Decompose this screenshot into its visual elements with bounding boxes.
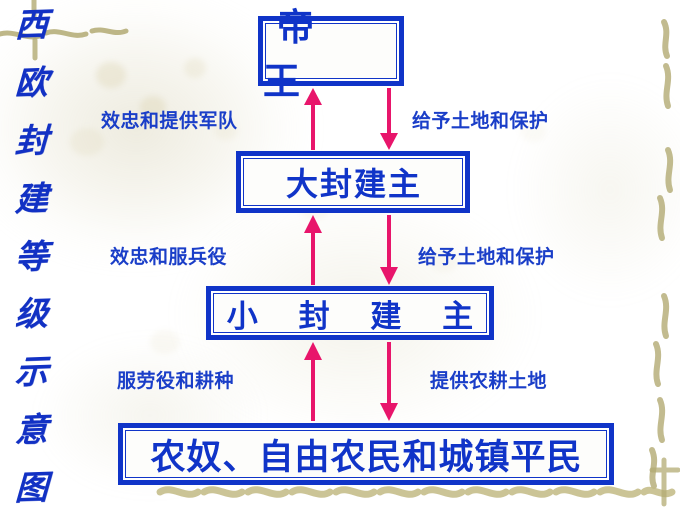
- title-char: 示: [14, 355, 48, 389]
- slide-canvas: 西 欧 封 建 等 级 示 意 图 帝 王 大封建主 小 封 建 主 农奴、自由…: [0, 0, 680, 510]
- node-box-small-feudal-lord: 小 封 建 主: [206, 286, 494, 340]
- node-box-great-feudal-lord: 大封建主: [236, 151, 470, 213]
- blossom-dot: [70, 128, 104, 156]
- watermark-wash-right: [480, 40, 680, 340]
- title-char: 图: [14, 470, 48, 504]
- bamboo-band-bottom-icon: [160, 490, 672, 495]
- blossom-dot: [150, 330, 180, 354]
- arrow-down-great-lord-to-small-lord: [378, 215, 400, 285]
- edge-label-upward-tier1: 效忠和提供军队: [101, 106, 238, 133]
- arrow-up-emperor-to-great-lord: [302, 88, 324, 150]
- bamboo-branch-right-icon: [652, 22, 670, 486]
- title-char: 建: [14, 181, 48, 215]
- arrow-up-small-lord-to-commoners: [302, 342, 324, 421]
- node-box-commoners: 农奴、自由农民和城镇平民: [118, 423, 614, 485]
- edge-label-upward-tier2: 效忠和服兵役: [110, 242, 227, 269]
- blossom-dot: [184, 58, 206, 78]
- arrow-down-small-lord-to-commoners: [378, 342, 400, 421]
- bamboo-cross-node-icon: [652, 460, 678, 504]
- title-char: 意: [14, 413, 48, 447]
- vertical-title: 西 欧 封 建 等 级 示 意 图: [4, 8, 58, 504]
- arrow-down-emperor-to-great-lord: [378, 88, 400, 150]
- edge-label-downward-tier3: 提供农耕土地: [430, 366, 547, 393]
- title-char: 级: [14, 297, 48, 331]
- edge-label-downward-tier2: 给予土地和保护: [418, 242, 555, 269]
- title-char: 西: [14, 7, 48, 41]
- title-char: 封: [14, 123, 48, 157]
- node-box-emperor: 帝 王: [258, 16, 404, 86]
- edge-label-downward-tier1: 给予土地和保护: [412, 106, 549, 133]
- blossom-dot: [96, 62, 126, 88]
- title-char: 欧: [14, 65, 48, 99]
- title-char: 等: [14, 239, 48, 273]
- arrow-up-great-lord-to-small-lord: [302, 215, 324, 285]
- edge-label-upward-tier3: 服劳役和耕种: [117, 366, 234, 393]
